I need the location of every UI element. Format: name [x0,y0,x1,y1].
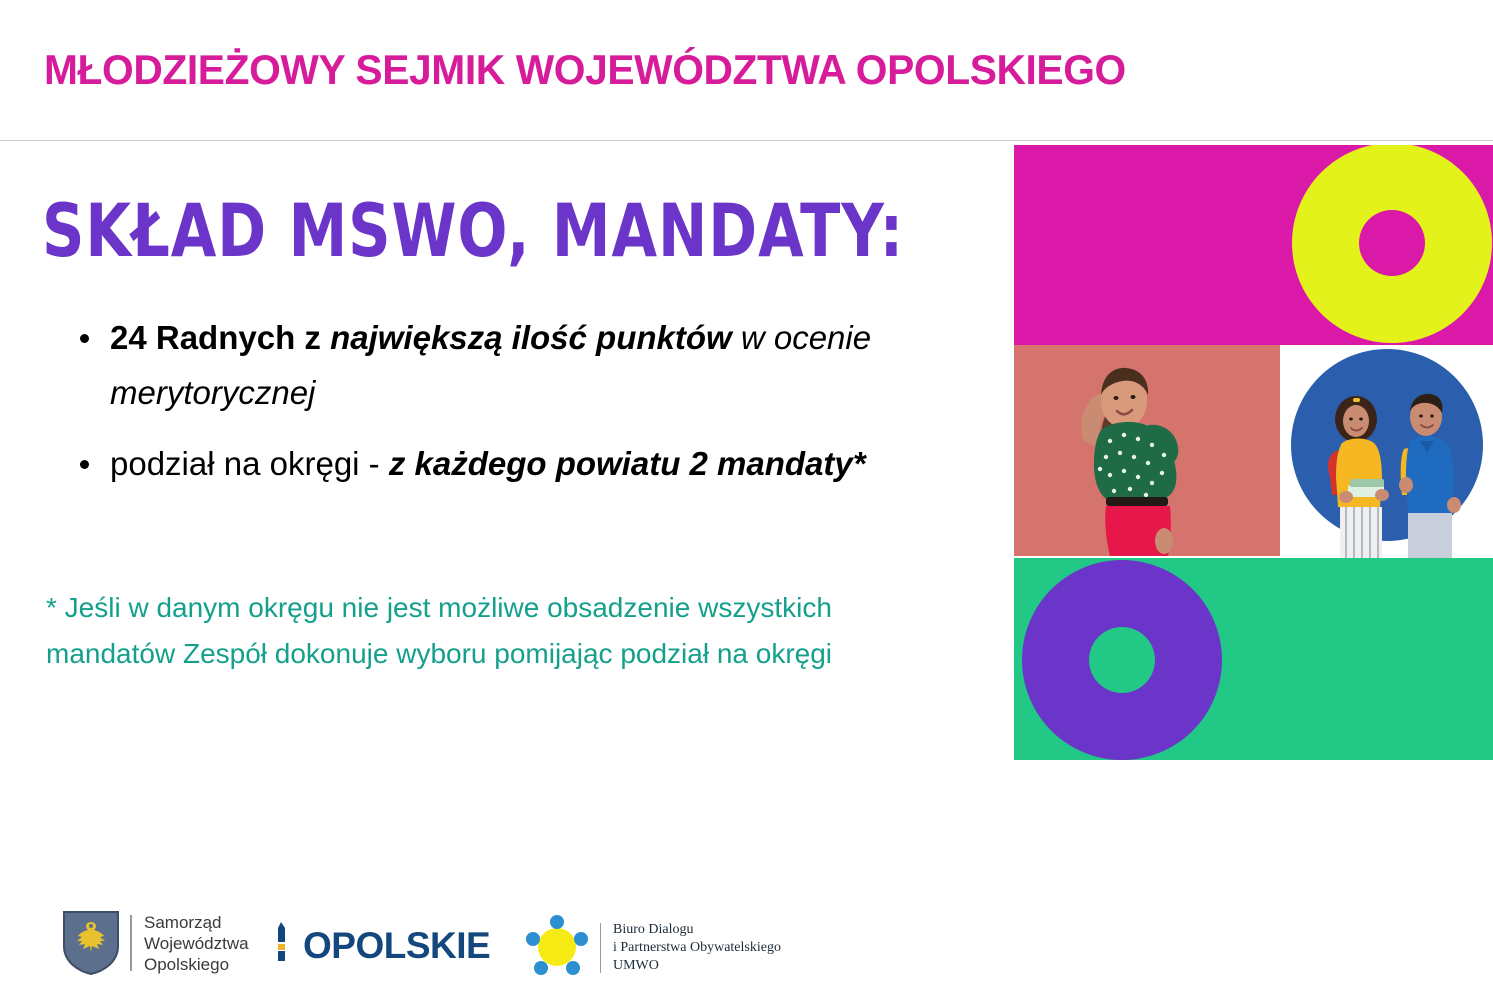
logo-biuro-label: Biuro Dialogu i Partnerstwa Obywatelskie… [613,921,781,975]
page-title: MŁODZIEŻOWY SEJMIK WOJEWÓDZTWA OPOLSKIEG… [44,44,1126,96]
logo-line: Opolskiego [144,955,229,974]
green-panel-with-purple-ring [1014,558,1493,760]
yellow-donut-shape [1292,145,1492,343]
logo-samorzad-label: Samorząd Województwa Opolskiego [144,912,249,975]
opole-coat-of-arms-icon [62,910,120,976]
logo-line: Samorząd [144,913,221,932]
logo-biuro-dialogu: Biuro Dialogu i Partnerstwa Obywatelskie… [522,912,781,983]
list-item: 24 Radnych z największą ilość punktów w … [62,310,962,420]
logo-line: UMWO [613,958,659,973]
logo-divider [130,915,132,971]
logo-line: Województwa [144,934,249,953]
logo-samorzad-wojewodztwa-opolskiego: Samorząd Województwa Opolskiego [62,910,249,976]
section-heading: SKŁAD MSWO, MANDATY: [42,190,904,273]
donut-hole [1359,210,1425,276]
slide: MŁODZIEŻOWY SEJMIK WOJEWÓDZTWA OPOLSKIEG… [0,0,1493,840]
photo-woman-green-blouse [1014,345,1280,556]
photo-two-students [1282,345,1493,558]
slide-header: MŁODZIEŻOWY SEJMIK WOJEWÓDZTWA OPOLSKIEG… [0,0,1493,140]
bullet-segment: największą ilość punktów [330,319,732,356]
logo-opolskie-wordmark: OPOLSKIE [303,925,490,967]
donut-hole [1089,627,1155,693]
footnote-text: * Jeśli w danym okręgu nie jest możliwe … [46,585,946,677]
bullet-segment: z każdego powiatu 2 mandaty* [389,445,866,482]
opolskie-tower-icon [272,920,294,971]
magenta-panel-with-yellow-ring [1014,145,1493,345]
logo-line: i Partnerstwa Obywatelskiego [613,940,781,955]
header-divider [0,140,1493,141]
purple-donut-shape [1022,560,1222,760]
bullet-list: 24 Radnych z największą ilość punktów w … [62,310,962,507]
bullet-segment: 24 Radnych z [110,319,330,356]
image-collage [1014,145,1493,760]
footer-logo-row: Samorząd Województwa Opolskiego OPOLSKIE [0,902,1000,990]
content-left-column: SKŁAD MSWO, MANDATY: 24 Radnych z najwię… [0,150,1000,840]
logo-opolskie: OPOLSKIE [272,920,490,971]
bullet-segment: podział na okręgi - [110,445,389,482]
logo-divider [600,923,601,973]
yellow-star-people-icon [522,912,592,983]
logo-line: Biuro Dialogu [613,922,694,937]
list-item: podział na okręgi - z każdego powiatu 2 … [62,436,962,491]
